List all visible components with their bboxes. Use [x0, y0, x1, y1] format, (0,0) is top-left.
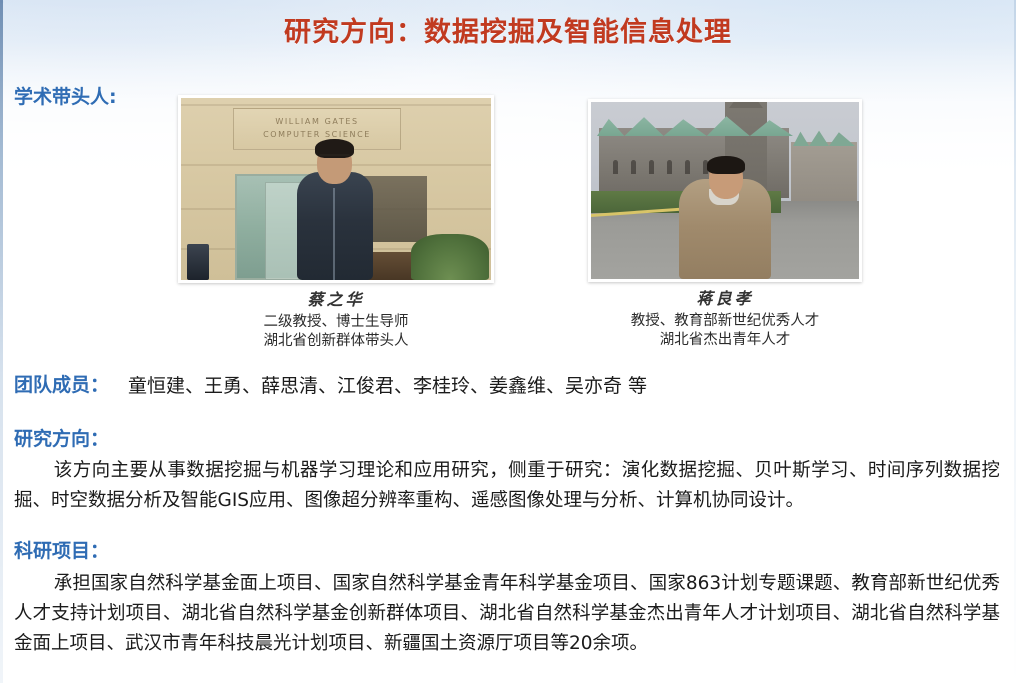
building-window: [649, 160, 654, 174]
leader-caption-2: 蒋良孝 教授、教育部新世纪优秀人才 湖北省杰出青年人才: [588, 289, 862, 349]
leader-name-2: 蒋良孝: [588, 289, 862, 310]
section-label-academic-leaders: 学术带头人:: [14, 82, 117, 109]
presentation-slide: 研究方向：数据挖掘及智能信息处理 学术带头人: WILLIAM GATES CO…: [0, 0, 1016, 683]
leader-title-2-line-2: 湖北省杰出青年人才: [588, 331, 862, 350]
leader-name-1: 蔡之华: [178, 290, 494, 311]
jacket-zipper: [333, 188, 335, 280]
leader-title-2-line-1: 教授、教育部新世纪优秀人才: [588, 312, 862, 331]
building-window: [685, 160, 690, 174]
building-window: [631, 160, 636, 174]
leader-photo-1: WILLIAM GATES COMPUTER SCIENCE: [181, 98, 491, 280]
leader-title-1-line-1: 二级教授、博士生导师: [178, 313, 494, 332]
person-hair: [707, 156, 745, 174]
leader-photo-frame-2: [588, 99, 862, 282]
section-label-research-projects: 科研项目：: [14, 536, 109, 563]
research-direction-paragraph: 该方向主要从事数据挖掘与机器学习理论和应用研究，侧重于研究：演化数据挖掘、贝叶斯…: [14, 456, 1000, 516]
person-torso: [297, 172, 373, 280]
section-label-team-members: 团队成员：: [14, 370, 109, 397]
leader-card-1: WILLIAM GATES COMPUTER SCIENCE 蔡之华: [178, 95, 494, 350]
facade-band: [181, 104, 491, 106]
research-projects-paragraph: 承担国家自然科学基金面上项目、国家自然科学基金青年科学基金项目、国家863计划专…: [14, 569, 1000, 659]
building-sign-line-1: WILLIAM GATES: [275, 117, 358, 126]
leader-photo-2: [591, 102, 859, 279]
slide-left-edge-accent: [0, 0, 3, 683]
chateau-laurier-building: [791, 142, 857, 204]
section-label-research-direction: 研究方向：: [14, 424, 109, 451]
glasses-icon: [319, 154, 350, 164]
building-window: [667, 160, 672, 174]
team-members-list: 童恒建、王勇、薛思清、江俊君、李桂玲、姜鑫维、吴亦奇 等: [128, 371, 647, 398]
shrub: [411, 234, 489, 280]
building-window: [613, 160, 618, 174]
leader-card-2: 蒋良孝 教授、教育部新世纪优秀人才 湖北省杰出青年人才: [588, 99, 862, 349]
leader-caption-1: 蔡之华 二级教授、博士生导师 湖北省创新群体带头人: [178, 290, 494, 350]
page-title: 研究方向：数据挖掘及智能信息处理: [0, 10, 1016, 49]
leader-title-1-line-2: 湖北省创新群体带头人: [178, 332, 494, 351]
leader-photo-frame-1: WILLIAM GATES COMPUTER SCIENCE: [178, 95, 494, 283]
trash-bin: [187, 244, 209, 280]
building-sign-line-2: COMPUTER SCIENCE: [263, 130, 371, 139]
